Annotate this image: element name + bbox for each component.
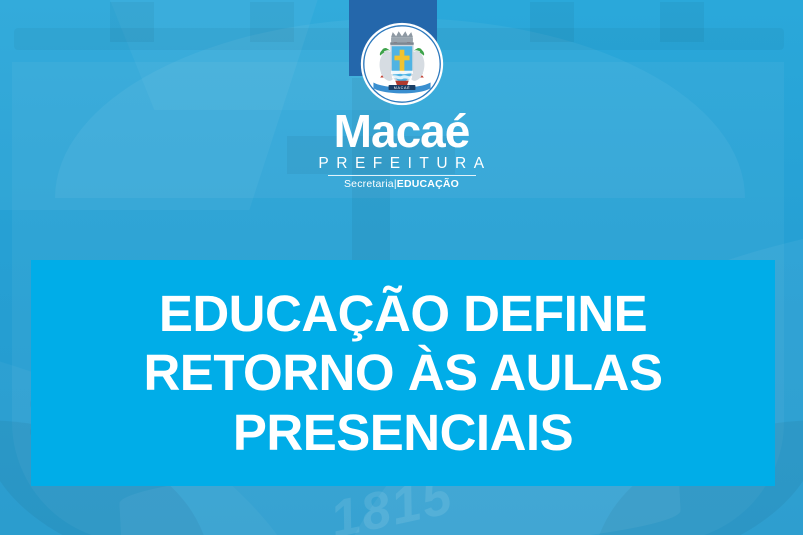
macae-coat-of-arms-icon: MACAÉ xyxy=(360,22,444,106)
svg-text:MACAÉ: MACAÉ xyxy=(393,85,409,90)
brand-subtitle: PREFEITURA xyxy=(0,155,803,172)
department-label: Secretaria|EDUCAÇÃO xyxy=(0,178,803,190)
headline-panel: EDUCAÇÃO DEFINE RETORNO ÀS AULAS PRESENC… xyxy=(31,260,775,486)
brand-divider xyxy=(328,175,476,176)
headline-line-1: EDUCAÇÃO DEFINE xyxy=(45,284,761,343)
announcement-banner: 1815 xyxy=(0,0,803,535)
headline-line-3: PRESENCIAIS xyxy=(45,403,761,462)
headline-line-2: RETORNO ÀS AULAS xyxy=(45,343,761,402)
department-prefix: Secretaria xyxy=(344,178,394,190)
brand-name: Macaé xyxy=(0,110,803,154)
department-name: EDUCAÇÃO xyxy=(397,178,459,190)
macae-logo: MACAÉ Macaé PREFEITURA Secretaria|EDUCAÇ… xyxy=(0,22,803,190)
headline-text: EDUCAÇÃO DEFINE RETORNO ÀS AULAS PRESENC… xyxy=(31,284,775,461)
